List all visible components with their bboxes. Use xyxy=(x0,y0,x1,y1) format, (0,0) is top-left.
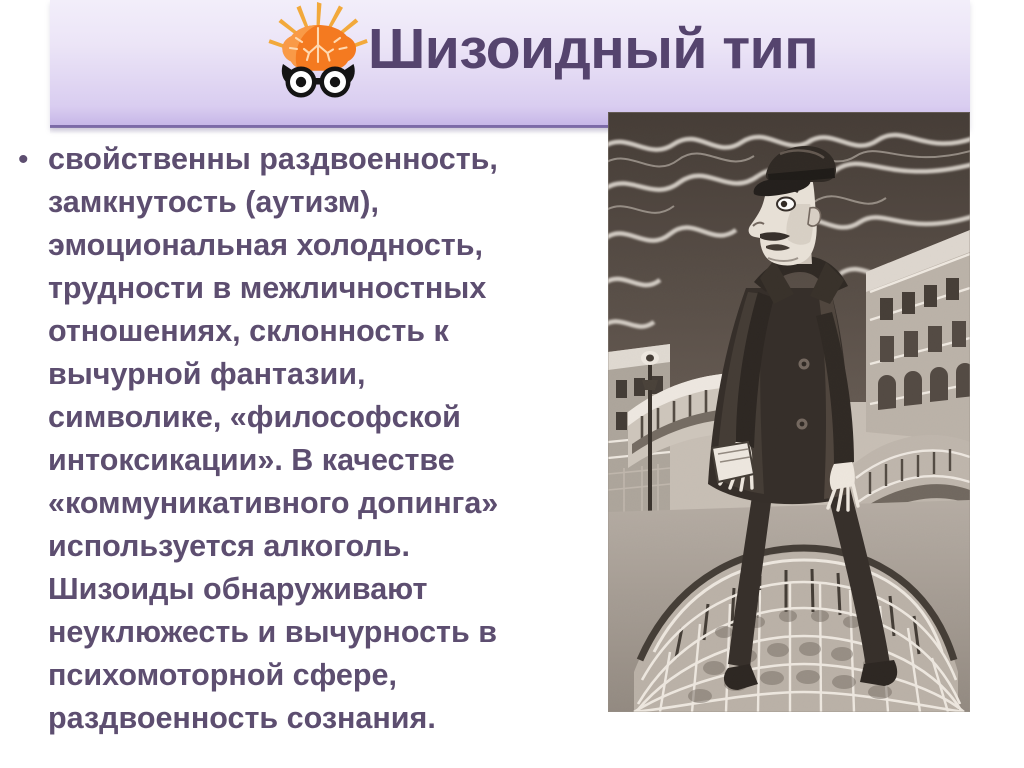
bullet-line: психомоторной сфере, xyxy=(48,654,590,697)
content-body: • свойственны раздвоенность, замкнутость… xyxy=(10,138,590,740)
bullet-line: символике, «философской xyxy=(48,396,590,439)
title-banner: Шизоидный тип xyxy=(50,0,970,128)
bullet-line: трудности в межличностных xyxy=(48,267,590,310)
page-title: Шизоидный тип xyxy=(368,20,818,80)
bullet-line: вычурной фантазии, xyxy=(48,353,590,396)
bullet-line: интоксикации». В качестве xyxy=(48,439,590,482)
bullet-marker: • xyxy=(10,138,48,181)
slide-canvas: Шизоидный тип • свойственны раздвоенност… xyxy=(0,0,1024,768)
bullet-line: Шизоиды обнаруживают xyxy=(48,568,590,611)
bullet-line: отношениях, склонность к xyxy=(48,310,590,353)
bullet-line: используется алкоголь. xyxy=(48,525,590,568)
bullet-line: «коммуникативного допинга» xyxy=(48,482,590,525)
bullet-text: свойственны раздвоенность, замкнутость (… xyxy=(48,138,590,740)
bullet-line: замкнутость (аутизм), xyxy=(48,181,590,224)
schizoid-figure-engraving xyxy=(608,112,970,712)
bullet-line: раздвоенность сознания. xyxy=(48,697,590,740)
list-item: • свойственны раздвоенность, замкнутость… xyxy=(10,138,590,740)
bullet-line: свойственны раздвоенность, xyxy=(48,138,590,181)
bullet-line: неуклюжесть и вычурность в xyxy=(48,611,590,654)
bullet-line: эмоциональная холодность, xyxy=(48,224,590,267)
brain-with-glasses-icon xyxy=(266,2,370,98)
